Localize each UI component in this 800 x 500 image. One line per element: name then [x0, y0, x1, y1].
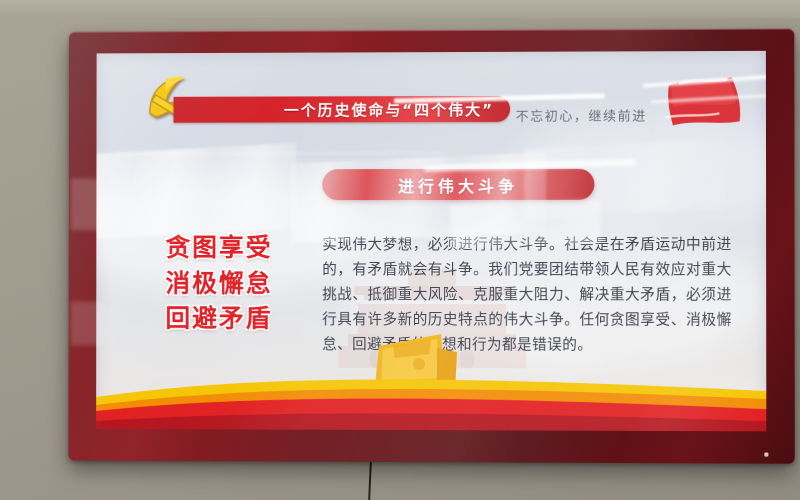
- slide-title-ribbon: 一个历史使命与“四个伟大”: [174, 96, 511, 123]
- section-banner: 进行伟大斗争: [322, 169, 594, 200]
- wall-mounted-television[interactable]: 一个历史使命与“四个伟大” 不忘初心，继续前进 进行伟大斗争 贪图享受 消极懈怠…: [68, 29, 794, 464]
- room-scene: 一个历史使命与“四个伟大” 不忘初心，继续前进 进行伟大斗争 贪图享受 消极懈怠…: [0, 0, 800, 500]
- slide-slogan: 不忘初心，继续前进: [516, 105, 647, 124]
- red-flag-icon: [659, 73, 752, 138]
- tv-screen[interactable]: 一个历史使命与“四个伟大” 不忘初心，继续前进 进行伟大斗争 贪图享受 消极懈怠…: [96, 51, 766, 432]
- slide-header: 一个历史使命与“四个伟大” 不忘初心，继续前进: [97, 51, 766, 137]
- keyword-item: 消极懈怠: [144, 265, 295, 300]
- keyword-item: 贪图享受: [144, 230, 295, 265]
- keyword-column: 贪图享受 消极懈怠 回避矛盾: [144, 230, 295, 336]
- bottom-wave-decoration: [96, 367, 766, 431]
- section-banner-label: 进行伟大斗争: [398, 172, 518, 196]
- wall-seam: [0, 0, 800, 18]
- keyword-item: 回避矛盾: [144, 301, 295, 337]
- window-reflection: [96, 143, 296, 240]
- power-led-indicator: [764, 453, 768, 457]
- slide-title: 一个历史使命与“四个伟大”: [284, 98, 494, 120]
- power-cable: [368, 458, 372, 500]
